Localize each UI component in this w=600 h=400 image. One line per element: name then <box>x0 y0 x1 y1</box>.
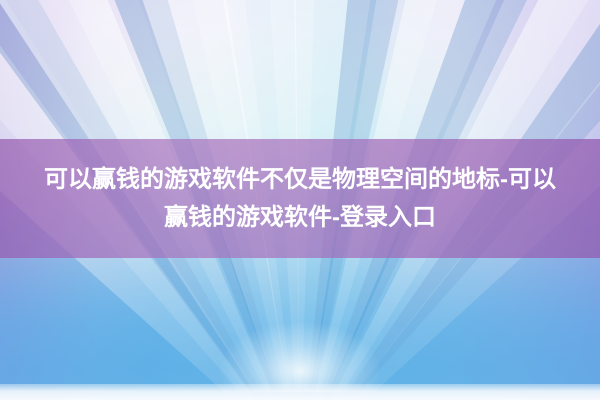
caption-line-1: 可以赢钱的游戏软件不仅是物理空间的地标-可以 <box>44 161 556 199</box>
bottom-edge-strip <box>0 384 600 400</box>
caption-band: 可以赢钱的游戏软件不仅是物理空间的地标-可以 赢钱的游戏软件-登录入口 <box>0 139 600 258</box>
promo-banner: 可以赢钱的游戏软件不仅是物理空间的地标-可以 赢钱的游戏软件-登录入口 <box>0 0 600 400</box>
caption-line-2: 赢钱的游戏软件-登录入口 <box>164 199 436 237</box>
